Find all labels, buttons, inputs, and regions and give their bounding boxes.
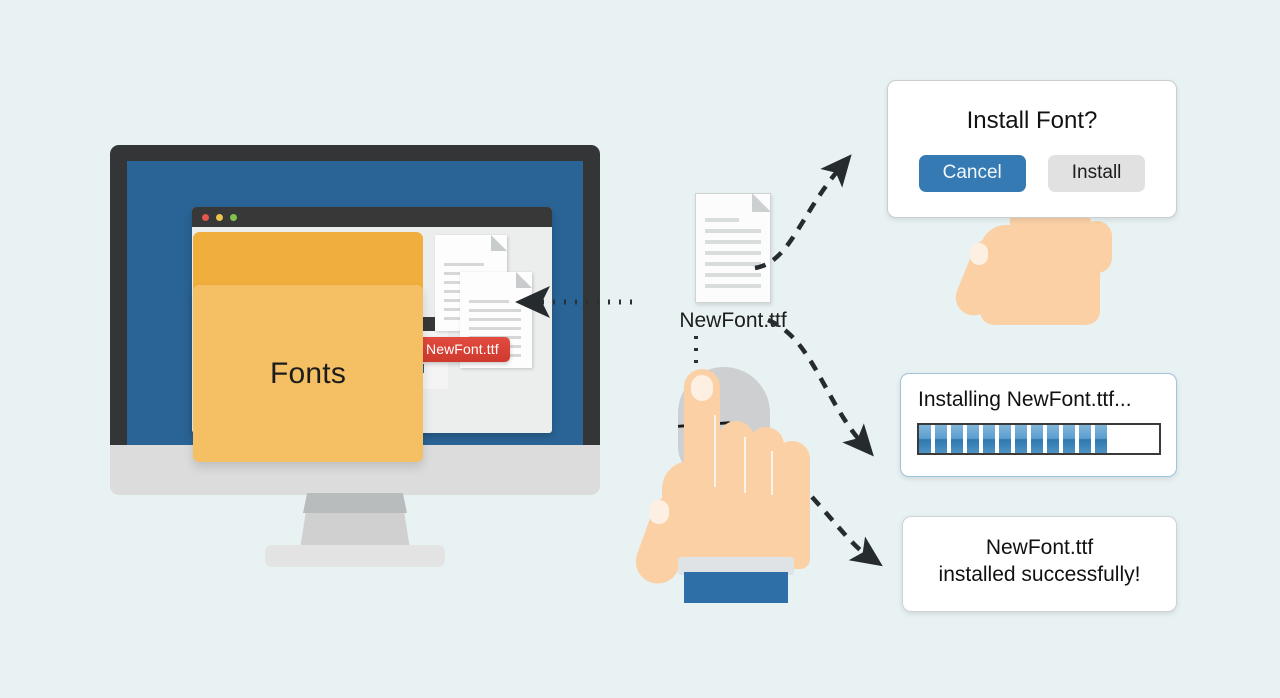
folder-label: Fonts [193,285,423,462]
progress-segment [1063,425,1075,453]
progress-segment [919,425,931,453]
minimize-dot-icon[interactable] [216,214,223,221]
success-dialog: NewFont.ttf installed successfully! [902,516,1177,612]
progress-segment [983,425,995,453]
success-message: NewFont.ttf installed successfully! [903,517,1176,589]
thumb-nail [649,500,669,524]
progress-segment [1015,425,1027,453]
sleeve-cuff [684,572,788,603]
progress-bar [917,423,1161,455]
progress-bar-fill [919,425,1111,453]
progress-segment [951,425,963,453]
monitor-stand-base [265,545,445,567]
page-fold-icon [491,235,507,251]
fingernail [691,375,713,401]
page-fold-icon [516,272,532,288]
maximize-dot-icon[interactable] [230,214,237,221]
fonts-folder[interactable]: Fonts [193,232,423,462]
folder-front: Fonts [193,285,423,462]
installing-progress-dialog: Installing NewFont.ttf... [900,373,1177,477]
progress-segment [999,425,1011,453]
progress-segment [1079,425,1091,453]
file-name-label: NewFont.ttf [634,309,832,333]
progress-segment [1095,425,1107,453]
page-fold-icon [752,193,771,212]
file-name-badge: NewFont.ttf [415,337,510,362]
document-icon [695,193,771,303]
cancel-button[interactable]: Cancel [919,155,1026,192]
progress-segment [1031,425,1043,453]
mouse-with-hand[interactable] [640,365,830,595]
dialog-button-row: Cancel Install [888,155,1176,192]
thumb-nail [970,243,988,265]
close-dot-icon[interactable] [202,214,209,221]
install-button[interactable]: Install [1048,155,1146,192]
dialog-title: Install Font? [888,107,1176,135]
newfont-file[interactable]: NewFont.ttf [658,193,808,303]
monitor-stand-shade [303,493,407,513]
install-font-dialog[interactable]: Install Font? Cancel Install [887,80,1177,218]
illustration-canvas: NewFont.ttf Fonts NewFont.ttf [0,0,1280,698]
progress-segment [967,425,979,453]
progress-label: Installing NewFont.ttf... [918,388,1176,412]
window-title-bar [192,207,552,227]
success-line-1: NewFont.ttf [903,534,1176,561]
progress-segment [1047,425,1059,453]
success-line-2: installed successfully! [903,561,1176,588]
progress-segment [935,425,947,453]
